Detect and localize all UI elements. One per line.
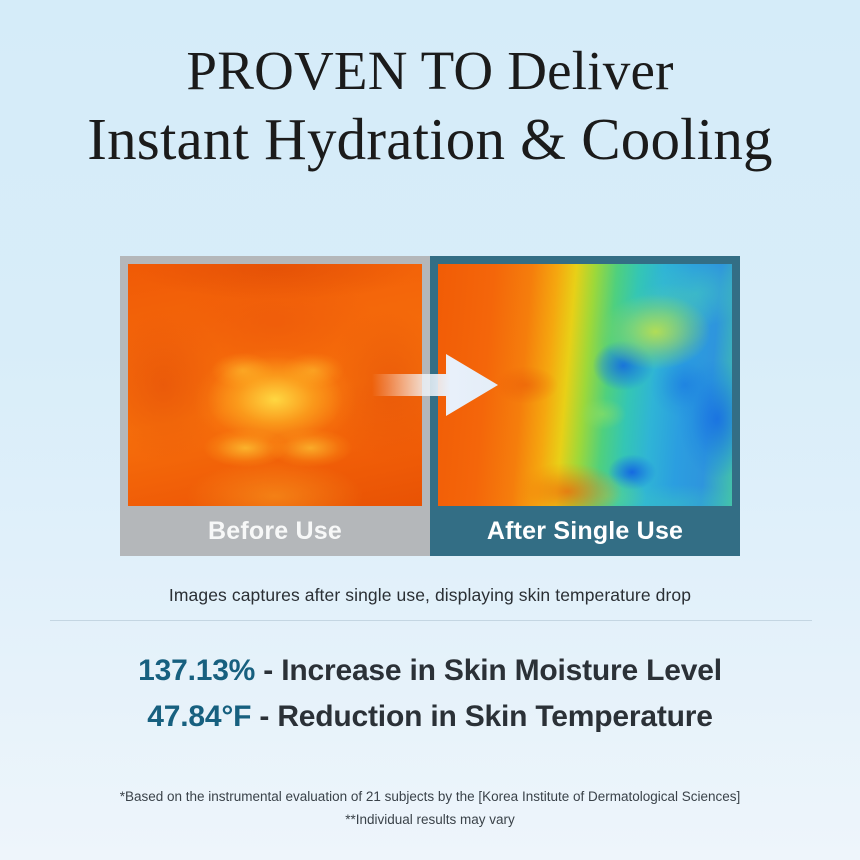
stat-label-temperature: Reduction in Skin Temperature	[277, 700, 712, 733]
stat-label-moisture: Increase in Skin Moisture Level	[281, 654, 722, 687]
stat-separator-moisture: -	[255, 654, 281, 687]
before-panel-label: Before Use	[120, 506, 430, 556]
headline-line-1: PROVEN TO Deliver	[0, 40, 860, 102]
after-panel: After Single Use	[430, 256, 740, 556]
before-panel: Before Use	[120, 256, 430, 556]
after-thermal-image	[438, 264, 732, 506]
headline-line-2: Instant Hydration & Cooling	[0, 106, 860, 172]
footnotes: *Based on the instrumental evaluation of…	[0, 786, 860, 832]
stat-value-temperature: 47.84°F	[147, 700, 251, 733]
statistics-list: 137.13% - Increase in Skin Moisture Leve…	[0, 648, 860, 740]
stat-row-moisture: 137.13% - Increase in Skin Moisture Leve…	[0, 648, 860, 694]
footnote-line-2: **Individual results may vary	[0, 809, 860, 832]
after-panel-label: After Single Use	[430, 506, 740, 556]
stat-row-temperature: 47.84°F - Reduction in Skin Temperature	[0, 694, 860, 740]
footnote-line-1: *Based on the instrumental evaluation of…	[0, 786, 860, 809]
before-after-comparison: Before Use After Single Use	[120, 256, 740, 556]
infographic-root: PROVEN TO Deliver Instant Hydration & Co…	[0, 0, 860, 860]
page-title: PROVEN TO Deliver Instant Hydration & Co…	[0, 40, 860, 172]
section-divider	[50, 620, 812, 621]
stat-value-moisture: 137.13%	[138, 654, 255, 687]
comparison-caption: Images captures after single use, displa…	[0, 585, 860, 606]
stat-separator-temperature: -	[251, 700, 277, 733]
before-thermal-image	[128, 264, 422, 506]
